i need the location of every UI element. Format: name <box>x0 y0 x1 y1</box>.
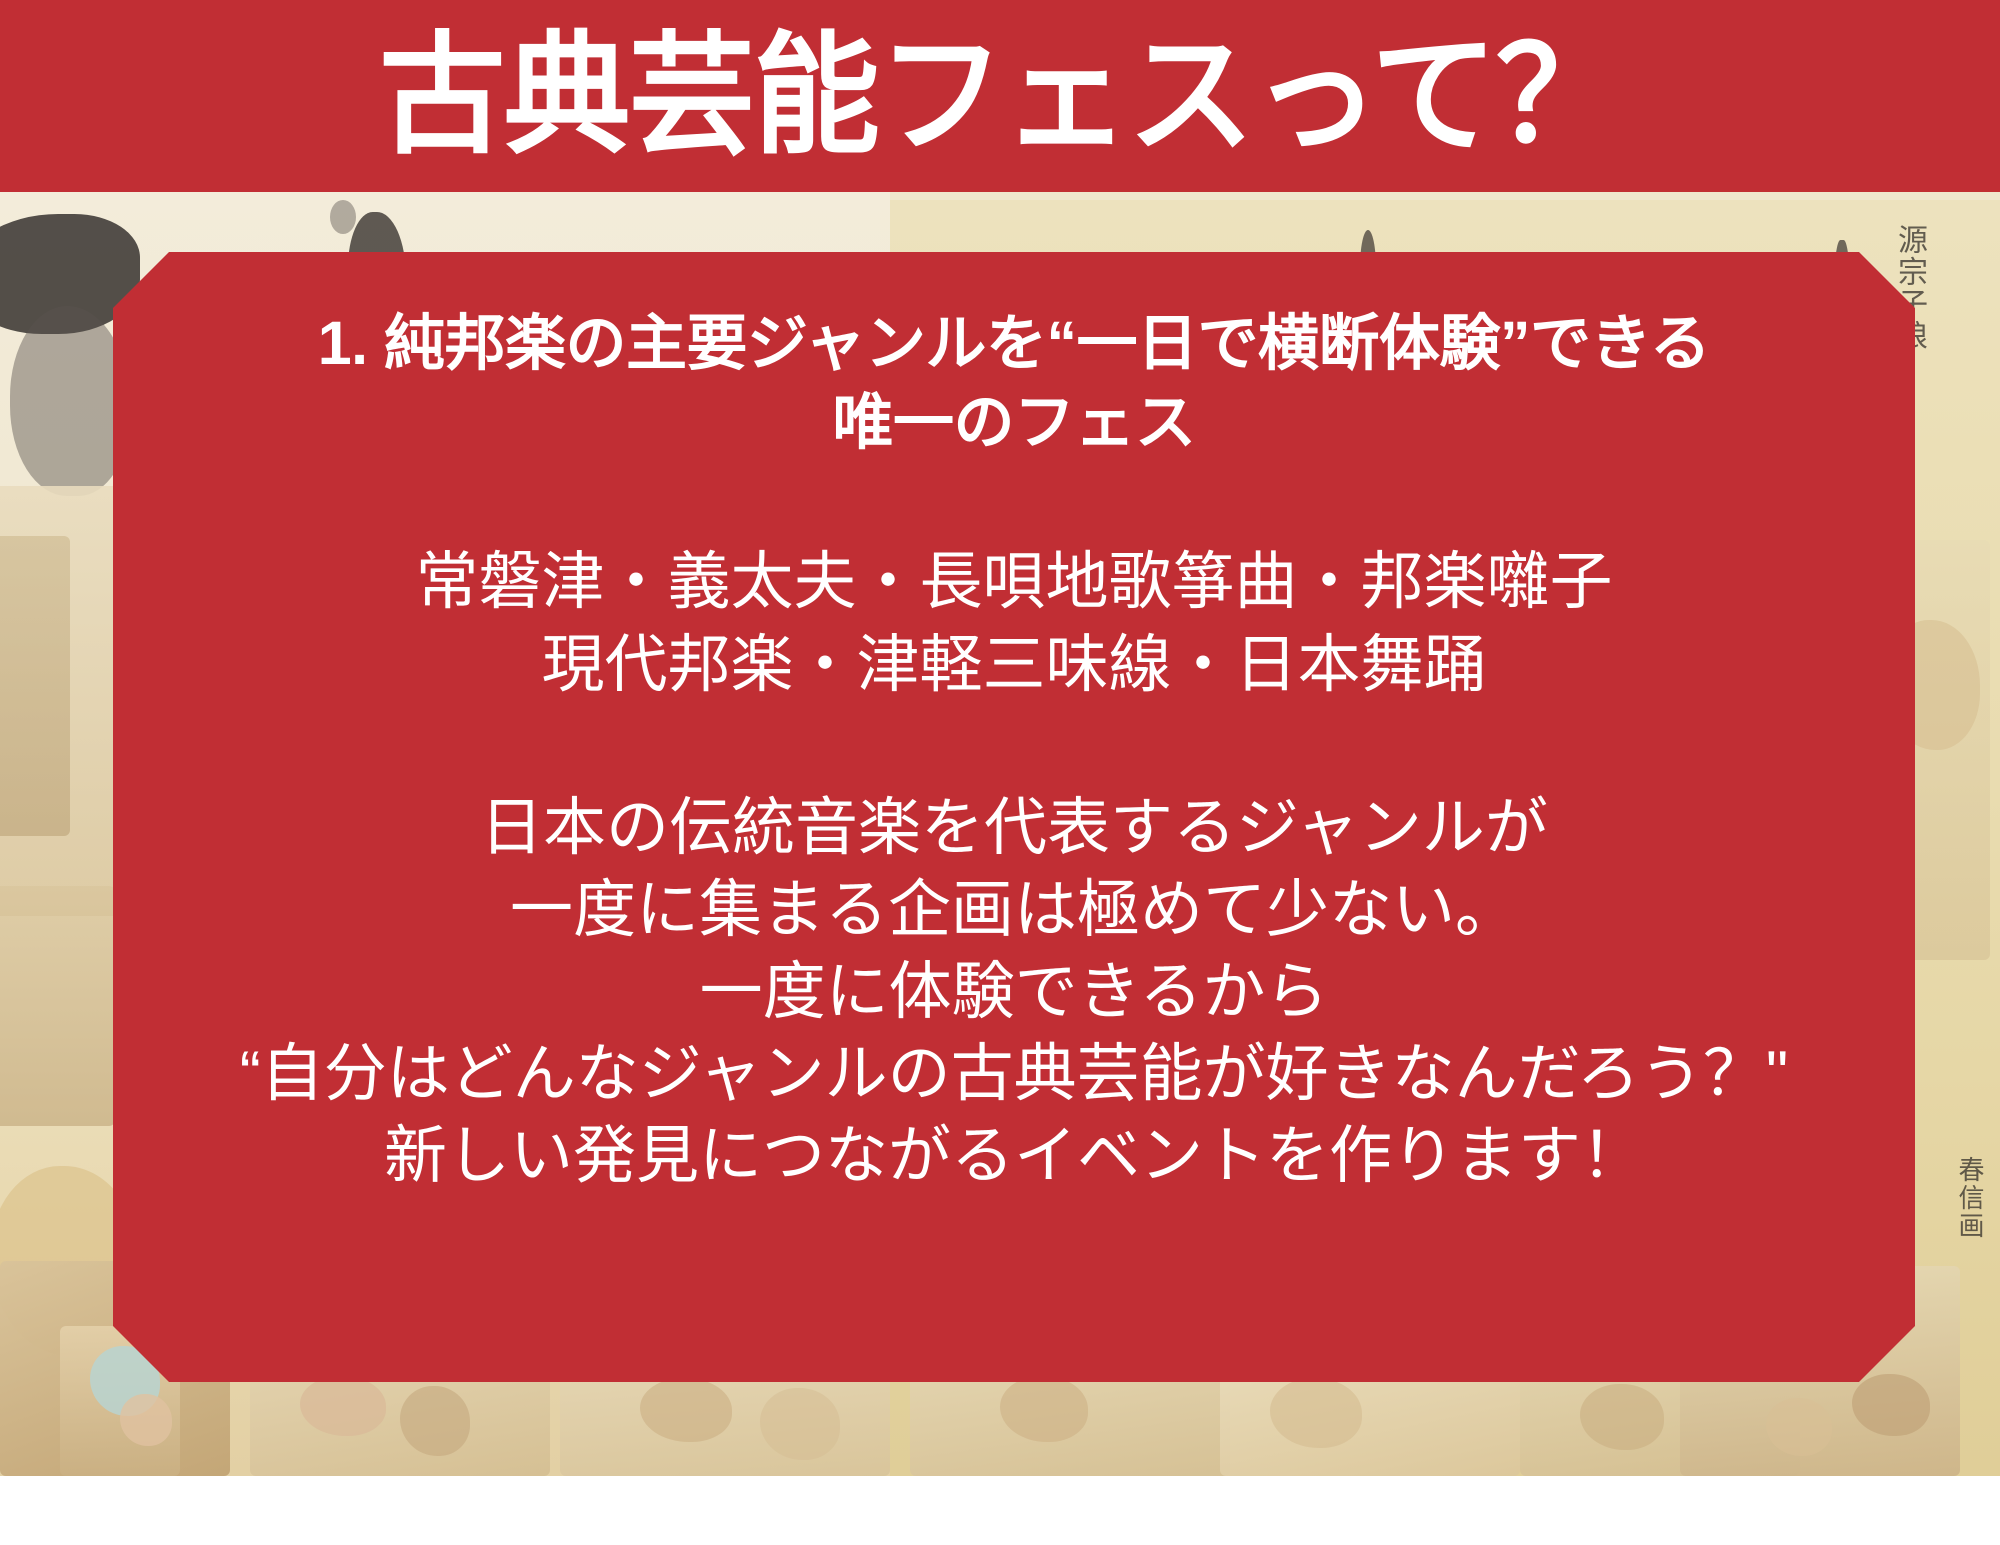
content-panel: 1. 純邦楽の主要ジャンルを“一日で横断体験”できる 唯一のフェス 常磐津・義太… <box>113 252 1915 1382</box>
headline-line-1: 1. 純邦楽の主要ジャンルを“一日で横断体験”できる <box>159 304 1869 383</box>
genre-line-2: 現代邦楽・津軽三味線・日本舞踊 <box>159 624 1869 708</box>
genre-line-1: 常磐津・義太夫・長唄地歌箏曲・邦楽囃子 <box>159 541 1869 625</box>
headline-line-2: 唯一のフェス <box>159 383 1869 462</box>
body-line-3: 一度に体験できるから <box>159 952 1869 1034</box>
genre-list-block: 常磐津・義太夫・長唄地歌箏曲・邦楽囃子 現代邦楽・津軽三味線・日本舞踊 <box>159 541 1869 709</box>
body-line-5: 新しい発見につながるイベントを作ります！ <box>159 1116 1869 1198</box>
page-title: 古典芸能フェスって？ <box>379 30 1621 162</box>
body-copy-block: 日本の伝統音楽を代表するジャンルが 一度に集まる企画は極めて少ない。 一度に体験… <box>159 788 1869 1197</box>
body-line-2: 一度に集まる企画は極めて少ない。 <box>159 870 1869 952</box>
bottom-white-strip <box>0 1476 2000 1545</box>
body-line-1: 日本の伝統音楽を代表するジャンルが <box>159 788 1869 870</box>
headline-block: 1. 純邦楽の主要ジャンルを“一日で横断体験”できる 唯一のフェス <box>159 304 1869 463</box>
body-line-4: “自分はどんなジャンルの古典芸能が好きなんだろう？" <box>159 1034 1869 1116</box>
header-banner: 古典芸能フェスって？ <box>0 0 2000 192</box>
slide-root: 源宗子娘 春信画 古典芸能フェスって？ 1. 純邦楽の主要ジャンルを“一日で横断… <box>0 0 2000 1545</box>
